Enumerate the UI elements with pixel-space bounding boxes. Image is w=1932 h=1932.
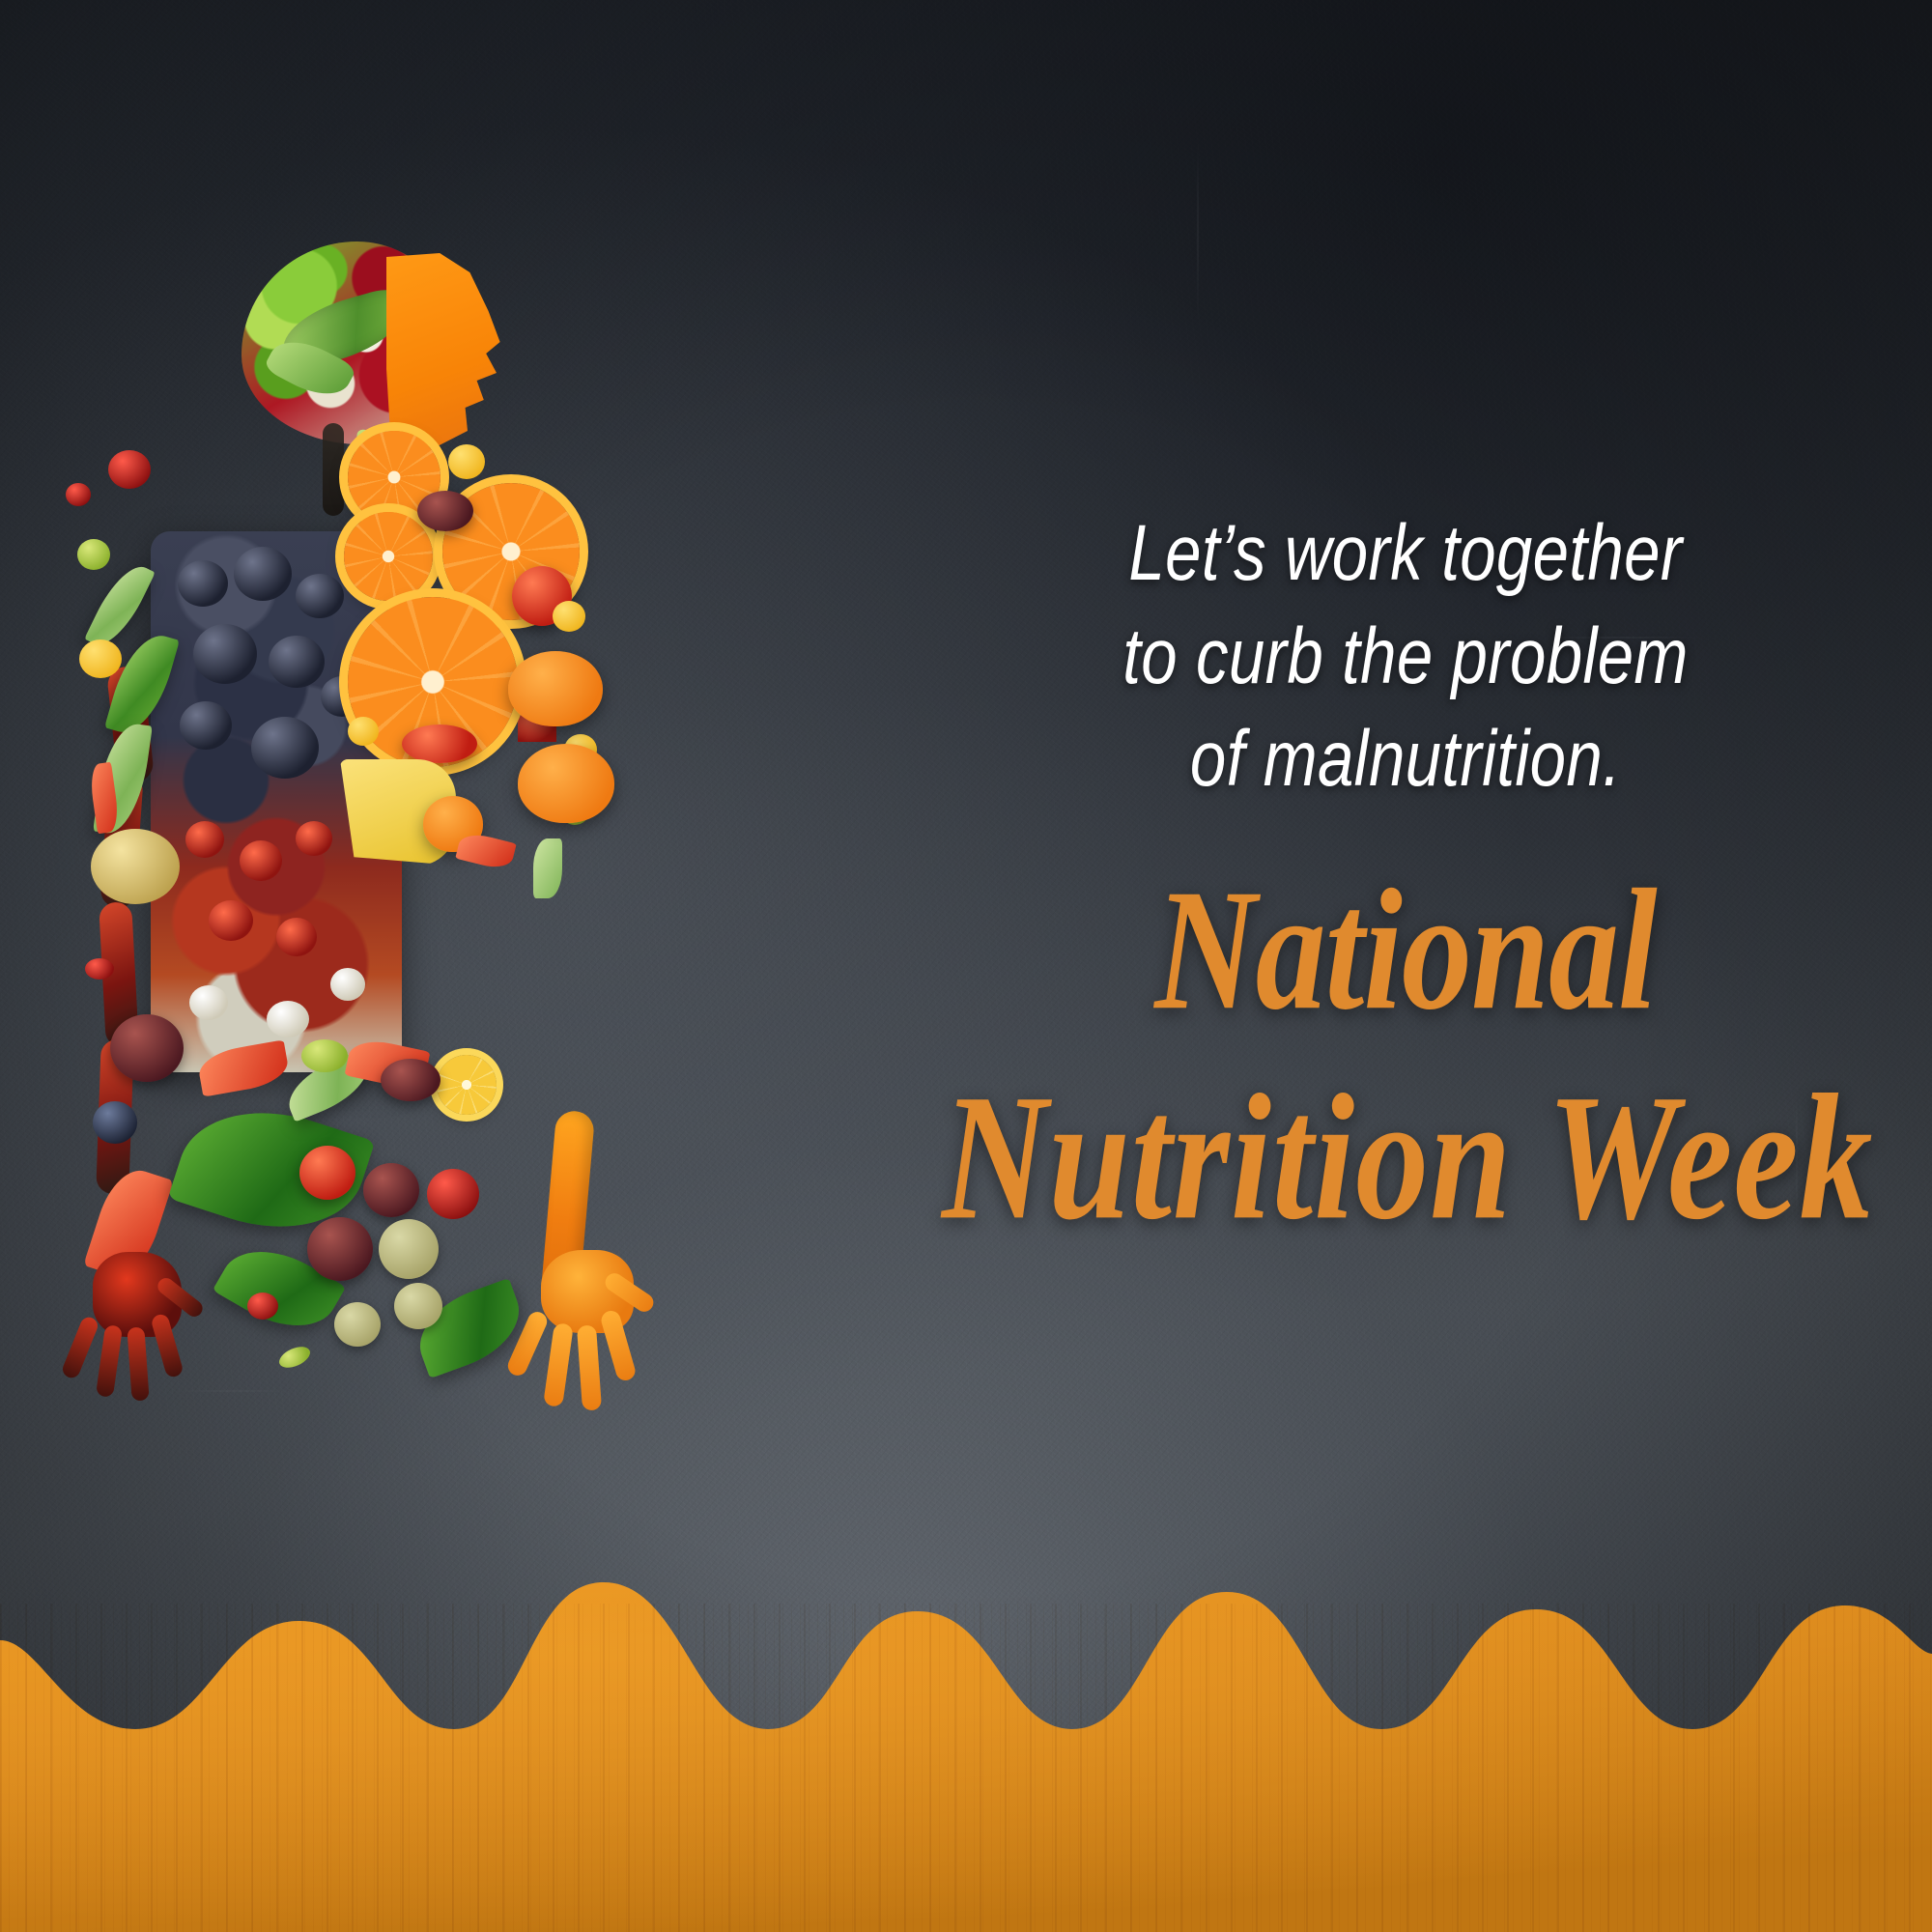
- blackberry-icon: [251, 717, 319, 779]
- green-sprout-icon: [276, 1343, 313, 1372]
- headline-line-2: Nutrition Week: [942, 1052, 1869, 1264]
- figure-left-hand: [68, 1246, 213, 1401]
- plum-icon: [110, 1014, 184, 1082]
- nutrition-week-poster: Let’s work together to curb the problem …: [0, 0, 1932, 1932]
- blackberry-icon: [269, 636, 325, 688]
- blackberry-icon: [296, 574, 344, 618]
- pomegranate-seed-icon: [276, 918, 317, 956]
- blackberry-icon: [193, 624, 257, 684]
- bottom-scalloped-band: [0, 1546, 1932, 1932]
- berry-strand: [323, 423, 344, 516]
- finger: [599, 1309, 638, 1383]
- blackberry-icon: [178, 560, 228, 607]
- green-grape-icon: [77, 539, 110, 570]
- cherry-tomato-icon: [402, 724, 477, 763]
- food-human-figure-illustration: [58, 241, 869, 1497]
- white-seed-icon: [267, 1001, 309, 1037]
- red-chili-icon: [455, 830, 517, 871]
- text-column: Let’s work together to curb the problem …: [923, 502, 1889, 1202]
- headline: National Nutrition Week: [942, 848, 1869, 1265]
- headline-line-1: National: [942, 848, 1869, 1053]
- plum-icon: [363, 1163, 419, 1217]
- red-berry-icon: [85, 958, 114, 980]
- finger: [96, 1324, 123, 1398]
- finger: [543, 1322, 574, 1407]
- white-seed-icon: [189, 985, 228, 1020]
- olive-icon: [394, 1283, 442, 1329]
- tagline-line-2: to curb the problem: [1009, 606, 1802, 709]
- dried-tomato-icon: [381, 1059, 440, 1101]
- kalamata-olive-icon: [417, 491, 473, 531]
- pomegranate-seed-icon: [296, 821, 332, 856]
- orange-peel-face-profile: [386, 253, 502, 446]
- yellow-berry-icon: [448, 444, 485, 479]
- plum-icon: [307, 1217, 373, 1281]
- cranberry-icon: [427, 1169, 479, 1219]
- melon-icon: [91, 829, 180, 904]
- cranberry-icon: [108, 450, 151, 489]
- orange-slice-icon: [344, 512, 433, 601]
- persimmon-icon: [518, 744, 614, 823]
- green-grape-icon: [301, 1039, 348, 1072]
- pomegranate-seed-icon: [209, 900, 253, 941]
- red-berry-icon: [247, 1293, 278, 1320]
- cherry-tomato-icon: [299, 1146, 355, 1200]
- celery-stick-icon: [533, 838, 562, 898]
- pomegranate-seed-icon: [240, 840, 282, 881]
- red-berry-icon: [66, 483, 91, 506]
- persimmon-icon: [508, 651, 603, 726]
- blueberry-icon: [93, 1101, 137, 1144]
- finger: [577, 1324, 602, 1410]
- olive-icon: [334, 1302, 381, 1347]
- yellow-berry-icon: [553, 601, 585, 632]
- blackberry-icon: [180, 701, 232, 750]
- tagline-line-3: of malnutrition.: [1009, 708, 1802, 811]
- finger: [127, 1326, 149, 1401]
- white-seed-icon: [330, 968, 365, 1001]
- finger: [150, 1313, 184, 1378]
- figure-right-hand: [512, 1246, 667, 1420]
- tagline-line-1: Let’s work together: [1009, 502, 1802, 606]
- pomegranate-seed-icon: [185, 821, 224, 858]
- scallop-wave-shape: [0, 1546, 1932, 1932]
- blackberry-icon: [234, 547, 292, 601]
- lemon-slice-icon: [437, 1055, 497, 1115]
- yellow-berry-icon: [348, 717, 379, 746]
- yellow-berry-icon: [79, 639, 122, 678]
- tagline: Let’s work together to curb the problem …: [1009, 502, 1802, 811]
- finger: [60, 1315, 99, 1380]
- olive-icon: [379, 1219, 439, 1279]
